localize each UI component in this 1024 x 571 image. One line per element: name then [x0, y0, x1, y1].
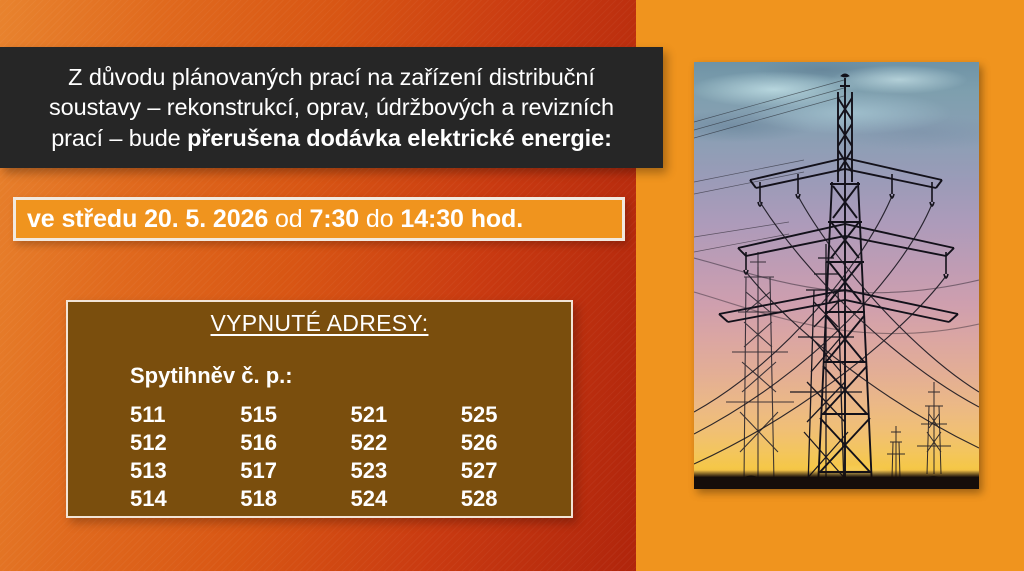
notice-line-3-prefix: prací – bude — [51, 125, 187, 151]
outage-date-text: ve středu 20. 5. 2026 od 7:30 do 14:30 h… — [16, 205, 523, 234]
power-pylon-photo — [694, 62, 979, 489]
house-number: 512 — [130, 429, 240, 457]
bird-on-mast — [841, 74, 849, 77]
transmission-pylon-silhouettes — [694, 62, 979, 489]
affected-addresses-box: VYPNUTÉ ADRESY: Spytihněv č. p.: 511 512… — [66, 300, 573, 518]
notice-slide: Z důvodu plánovaných prací na zařízení d… — [0, 0, 1024, 571]
house-number: 526 — [461, 429, 571, 457]
house-number-column: 521 522 523 524 — [351, 401, 461, 514]
house-number: 516 — [240, 429, 350, 457]
power-lines-far — [694, 80, 844, 252]
house-number-column: 515 516 517 518 — [240, 401, 350, 514]
date-prefix: ve středu — [27, 205, 144, 233]
house-number: 528 — [461, 485, 571, 513]
house-number: 514 — [130, 485, 240, 513]
addresses-title: VYPNUTÉ ADRESY: — [68, 310, 571, 337]
house-number-column: 525 526 527 528 — [461, 401, 571, 514]
house-number: 518 — [240, 485, 350, 513]
house-number: 521 — [351, 401, 461, 429]
house-number: 527 — [461, 457, 571, 485]
house-number: 513 — [130, 457, 240, 485]
house-number: 515 — [240, 401, 350, 429]
house-number-column: 511 512 513 514 — [130, 401, 240, 514]
outage-notice-box: Z důvodu plánovaných prací na zařízení d… — [0, 47, 663, 168]
house-number: 525 — [461, 401, 571, 429]
house-number: 511 — [130, 401, 240, 429]
house-number-grid: 511 512 513 514 515 516 517 518 521 522 … — [130, 401, 571, 514]
date-value: 20. 5. 2026 — [144, 205, 268, 233]
date-suffix: hod. — [464, 205, 523, 233]
addresses-subtitle: Spytihněv č. p.: — [130, 363, 571, 389]
house-number: 517 — [240, 457, 350, 485]
outage-notice-text: Z důvodu plánovaných prací na zařízení d… — [12, 62, 652, 154]
date-to-time: 14:30 — [400, 205, 463, 233]
notice-line-2: soustavy – rekonstrukcí, oprav, údržbový… — [49, 94, 614, 120]
house-number: 524 — [351, 485, 461, 513]
house-number: 523 — [351, 457, 461, 485]
outage-date-banner: ve středu 20. 5. 2026 od 7:30 do 14:30 h… — [13, 197, 625, 241]
notice-line-3-emphasis: přerušena dodávka elektrické energie: — [187, 125, 612, 151]
house-number: 522 — [351, 429, 461, 457]
date-from-time: 7:30 — [309, 205, 359, 233]
tree-silhouette-line — [694, 447, 979, 489]
date-from-label: od — [268, 205, 309, 233]
notice-line-1: Z důvodu plánovaných prací na zařízení d… — [68, 64, 595, 90]
date-to-label: do — [359, 205, 400, 233]
